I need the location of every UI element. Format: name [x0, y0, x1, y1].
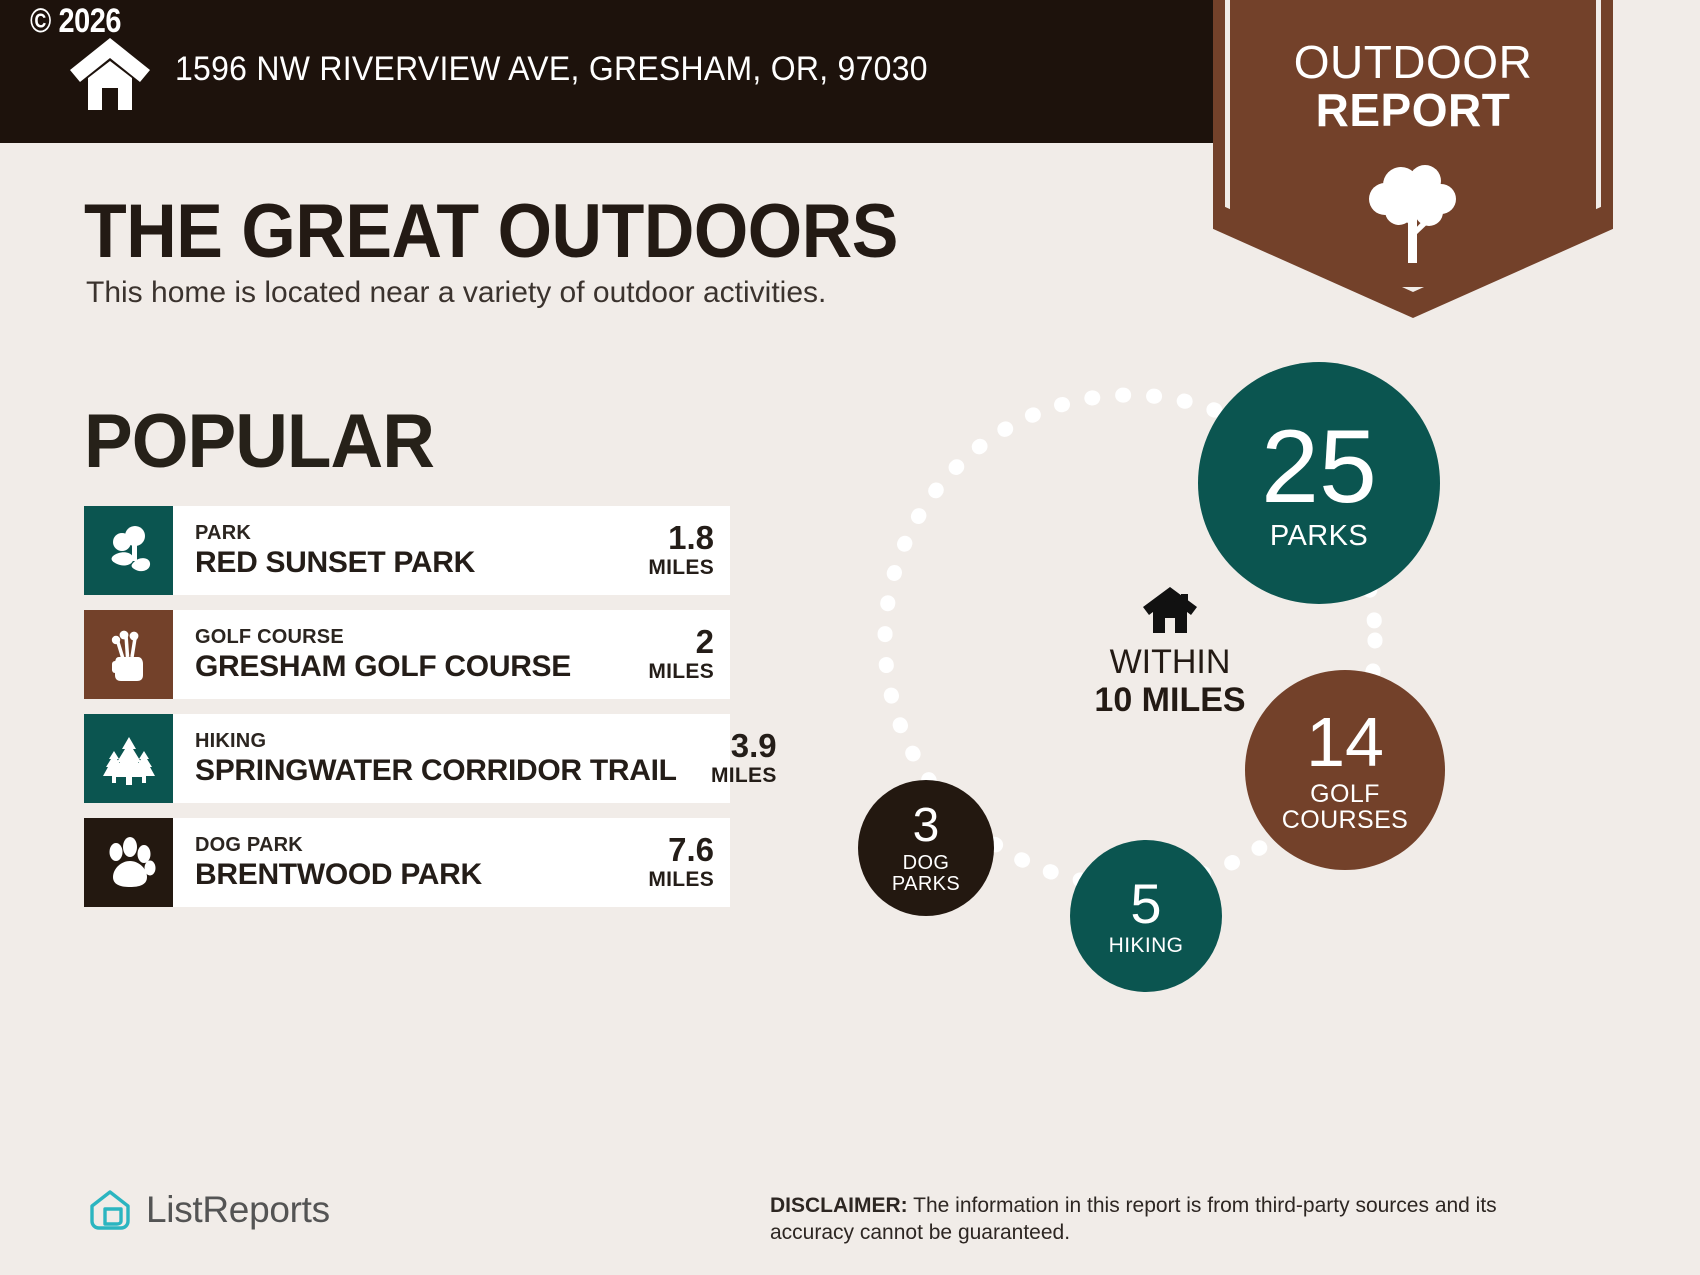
poi-distance-value: 3.9 — [731, 729, 777, 763]
house-icon — [1141, 585, 1199, 635]
poi-category: GOLF COURSE — [195, 626, 614, 649]
popular-heading: POPULAR — [84, 398, 434, 485]
poi-category: DOG PARK — [195, 834, 614, 857]
house-icon — [68, 36, 152, 112]
poi-distance: 1.8 MILES — [614, 506, 730, 595]
park-trees-icon — [101, 523, 157, 579]
poi-distance-unit: MILES — [648, 659, 714, 685]
poi-name: BRENTWOOD PARK — [195, 857, 614, 892]
poi-icon-tile — [84, 818, 173, 907]
disclaimer-label: DISCLAIMER: — [770, 1194, 908, 1217]
listreports-logo[interactable]: ListReports — [88, 1188, 330, 1232]
bubble-hiking-label: HIKING — [1109, 935, 1184, 957]
poi-distance-value: 1.8 — [668, 521, 714, 555]
poi-name: RED SUNSET PARK — [195, 545, 614, 580]
listreports-logo-text: ListReports — [146, 1189, 330, 1231]
poi-text: DOG PARK BRENTWOOD PARK — [173, 818, 614, 907]
poi-category: HIKING — [195, 730, 677, 753]
tree-icon — [1355, 155, 1471, 265]
poi-distance-value: 7.6 — [668, 833, 714, 867]
poi-text: PARK RED SUNSET PARK — [173, 506, 614, 595]
bubble-golf-value: 14 — [1306, 707, 1384, 777]
poi-distance-unit: MILES — [648, 867, 714, 893]
center-radius-label: WITHIN 10 MILES — [1035, 585, 1305, 719]
badge-title-line1: OUTDOOR — [1213, 38, 1613, 86]
bubble-dog-label-line1: DOG — [903, 853, 950, 874]
poi-name: SPRINGWATER CORRIDOR TRAIL — [195, 753, 677, 788]
badge-title: OUTDOOR REPORT — [1213, 38, 1613, 134]
popular-list: PARK RED SUNSET PARK 1.8 MILES — [84, 506, 730, 922]
poi-distance: 3.9 MILES — [677, 714, 793, 803]
poi-name: GRESHAM GOLF COURSE — [195, 649, 614, 684]
bubble-parks: 25 PARKS — [1198, 362, 1440, 604]
bubble-parks-value: 25 — [1261, 415, 1377, 519]
list-item[interactable]: GOLF COURSE GRESHAM GOLF COURSE 2 MILES — [84, 610, 730, 699]
poi-text: HIKING SPRINGWATER CORRIDOR TRAIL — [173, 714, 677, 803]
bubble-golf-label-line2: COURSES — [1282, 807, 1408, 833]
poi-text: GOLF COURSE GRESHAM GOLF COURSE — [173, 610, 614, 699]
poi-icon-tile — [84, 714, 173, 803]
bubble-hiking: 5 HIKING — [1070, 840, 1222, 992]
list-item[interactable]: HIKING SPRINGWATER CORRIDOR TRAIL 3.9 MI… — [84, 714, 730, 803]
bubble-hiking-value: 5 — [1130, 876, 1161, 932]
page-subtitle: This home is located near a variety of o… — [86, 276, 826, 310]
listreports-house-tag-icon — [88, 1188, 132, 1232]
center-label-line1: WITHIN — [1035, 643, 1305, 681]
poi-distance: 7.6 MILES — [614, 818, 730, 907]
paw-print-icon — [101, 835, 157, 891]
bubble-dog-value: 3 — [913, 802, 940, 850]
bubble-parks-label: PARKS — [1270, 521, 1368, 551]
pine-trees-icon — [101, 731, 157, 787]
poi-distance-value: 2 — [696, 625, 714, 659]
center-label-line2: 10 MILES — [1035, 681, 1305, 719]
poi-category: PARK — [195, 522, 614, 545]
outdoor-report-page: © 2026 1596 NW RIVERVIEW AVE, GRESHAM, O… — [0, 0, 1700, 1275]
list-item[interactable]: PARK RED SUNSET PARK 1.8 MILES — [84, 506, 730, 595]
property-address: 1596 NW RIVERVIEW AVE, GRESHAM, OR, 9703… — [175, 50, 928, 89]
poi-distance: 2 MILES — [614, 610, 730, 699]
poi-icon-tile — [84, 506, 173, 595]
list-item[interactable]: DOG PARK BRENTWOOD PARK 7.6 MILES — [84, 818, 730, 907]
golf-bag-icon — [101, 627, 157, 683]
poi-distance-unit: MILES — [711, 763, 777, 789]
bubble-golf-label-line1: GOLF — [1310, 781, 1380, 807]
bubble-dog-parks: 3 DOG PARKS — [858, 780, 994, 916]
disclaimer: DISCLAIMER: The information in this repo… — [770, 1192, 1530, 1246]
page-title: THE GREAT OUTDOORS — [84, 188, 898, 275]
poi-distance-unit: MILES — [648, 555, 714, 581]
bubble-dog-label-line2: PARKS — [892, 874, 960, 895]
poi-icon-tile — [84, 610, 173, 699]
within-10-miles-chart: 25 PARKS 14 GOLF COURSES 5 HIKING 3 DOG … — [820, 330, 1520, 1030]
copyright-watermark: © 2026 — [30, 2, 121, 41]
badge-title-line2: REPORT — [1213, 86, 1613, 134]
